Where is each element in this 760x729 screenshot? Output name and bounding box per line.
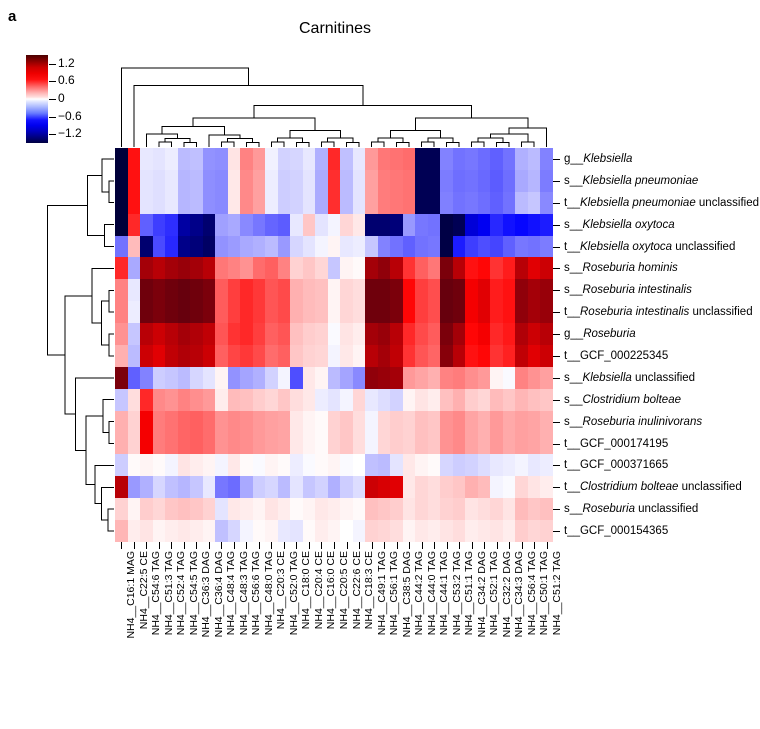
heatmap-cell [203, 279, 216, 301]
dendrogram-branch [159, 142, 172, 147]
dendrogram-branch [109, 290, 114, 312]
heatmap-cell [415, 236, 428, 258]
column-tick [221, 542, 222, 549]
column-label: NH4__C52:0 TAG [288, 551, 300, 635]
row-tick [553, 444, 560, 445]
heatmap-cell [265, 301, 278, 323]
heatmap-cell [115, 433, 128, 455]
figure-title: Carnitines [115, 20, 555, 38]
heatmap-cell [328, 192, 341, 214]
heatmap-cell [465, 367, 478, 389]
heatmap-cell [490, 476, 503, 498]
column-label: NH4__C18:3 CE [363, 551, 375, 629]
heatmap-cell [365, 279, 378, 301]
heatmap-cell [253, 389, 266, 411]
row-label-suffix: unclassified [635, 503, 698, 515]
heatmap-cell [128, 520, 141, 542]
heatmap-cell [215, 301, 228, 323]
heatmap-cell [328, 323, 341, 345]
heatmap-cell [353, 476, 366, 498]
heatmap-cell [140, 301, 153, 323]
row-label-taxon: Clostridium bolteae [583, 394, 681, 406]
heatmap-cell [290, 520, 303, 542]
row-label-taxon: Klebsiella [583, 153, 632, 165]
heatmap-cell [490, 279, 503, 301]
heatmap-cell [378, 498, 391, 520]
heatmap-cell [153, 279, 166, 301]
column-tick [159, 542, 160, 549]
row-label: s__Klebsiella unclassified [564, 372, 695, 384]
heatmap-cell [353, 148, 366, 170]
heatmap-cell [190, 433, 203, 455]
dendrogram-branch [109, 422, 114, 444]
color-key-tick [49, 117, 56, 118]
heatmap-cell [428, 476, 441, 498]
heatmap-cell [440, 345, 453, 367]
heatmap-cell [290, 367, 303, 389]
row-tick [553, 334, 560, 335]
heatmap-cell [340, 498, 353, 520]
column-label: NH4__C20:3 CE [275, 551, 287, 629]
heatmap-cell [528, 433, 541, 455]
heatmap-cell [253, 301, 266, 323]
heatmap-cell [228, 170, 241, 192]
heatmap-cell [515, 433, 528, 455]
heatmap-cell [303, 433, 316, 455]
heatmap-cell [165, 433, 178, 455]
heatmap-cell [190, 236, 203, 258]
heatmap-cell [128, 214, 141, 236]
heatmap-cell [265, 236, 278, 258]
column-label: NH4__C48:3 TAG [238, 551, 250, 635]
heatmap-cell [378, 257, 391, 279]
color-key-tick [49, 99, 56, 100]
row-label-taxon: Roseburia [583, 503, 635, 515]
heatmap-cell [203, 345, 216, 367]
heatmap-cell [278, 236, 291, 258]
heatmap-cell [490, 236, 503, 258]
heatmap-cell [453, 433, 466, 455]
heatmap-cell [265, 345, 278, 367]
panel-letter: a [8, 8, 16, 25]
heatmap-cell [153, 301, 166, 323]
column-tick [384, 542, 385, 549]
heatmap-cell [340, 170, 353, 192]
heatmap-cell [390, 476, 403, 498]
heatmap-cell [303, 498, 316, 520]
heatmap-cell [465, 148, 478, 170]
heatmap-cell [265, 170, 278, 192]
heatmap-cell [228, 192, 241, 214]
heatmap-cell [378, 411, 391, 433]
heatmap-cell [365, 257, 378, 279]
dendrogram-branch [47, 205, 87, 354]
heatmap-cell [115, 279, 128, 301]
heatmap-cell [428, 170, 441, 192]
row-tick [553, 181, 560, 182]
heatmap-cell [240, 279, 253, 301]
heatmap-cell [378, 236, 391, 258]
column-label: NH4__C20:5 CE [338, 551, 350, 629]
heatmap-cell [153, 433, 166, 455]
column-tick [321, 542, 322, 549]
heatmap-cell [240, 476, 253, 498]
heatmap-cell [365, 214, 378, 236]
heatmap-cell [403, 236, 416, 258]
row-label-prefix: s__ [564, 416, 583, 428]
heatmap-cell [303, 454, 316, 476]
heatmap-cell [540, 236, 553, 258]
heatmap-cell [353, 520, 366, 542]
heatmap-cell [453, 345, 466, 367]
color-key-tick-label: −0.6 [58, 111, 82, 121]
heatmap-cell [128, 170, 141, 192]
heatmap-cell [165, 411, 178, 433]
heatmap-cell [328, 345, 341, 367]
heatmap-cell [240, 389, 253, 411]
heatmap-cell [315, 411, 328, 433]
heatmap-cell [403, 389, 416, 411]
heatmap-cell [490, 148, 503, 170]
column-tick [372, 542, 373, 549]
heatmap-cell [265, 389, 278, 411]
heatmap-cell [378, 301, 391, 323]
heatmap-cell [453, 476, 466, 498]
heatmap-cell [528, 498, 541, 520]
heatmap-cell [240, 236, 253, 258]
heatmap-cell [515, 301, 528, 323]
heatmap-cell [478, 389, 491, 411]
heatmap-cell [440, 301, 453, 323]
heatmap-cell [503, 411, 516, 433]
heatmap-cell [278, 192, 291, 214]
heatmap-cell [253, 236, 266, 258]
heatmap-cell [340, 323, 353, 345]
heatmap-cell [265, 148, 278, 170]
column-tick [472, 542, 473, 549]
column-label: NH4__C50:1 TAG [538, 551, 550, 635]
heatmap-cell [240, 323, 253, 345]
heatmap-cell [528, 148, 541, 170]
row-tick [553, 268, 560, 269]
heatmap-cell [465, 192, 478, 214]
heatmap-cell [515, 389, 528, 411]
heatmap-cell [515, 236, 528, 258]
heatmap-cell [253, 411, 266, 433]
color-key-colorbar [26, 55, 48, 143]
heatmap-cell [253, 323, 266, 345]
heatmap-cell [503, 214, 516, 236]
column-tick [447, 542, 448, 549]
heatmap-cell [440, 476, 453, 498]
dendrogram-branch [422, 142, 435, 147]
heatmap-cell [415, 411, 428, 433]
row-label: s__Roseburia intestinalis [564, 284, 692, 296]
heatmap-cell [515, 257, 528, 279]
heatmap-cell [303, 257, 316, 279]
column-tick [534, 542, 535, 549]
heatmap-cell [265, 454, 278, 476]
heatmap-cell [253, 148, 266, 170]
heatmap-cell [165, 192, 178, 214]
dendrogram-branch [95, 465, 114, 503]
column-label: NH4__C48:0 TAG [263, 551, 275, 635]
heatmap-cell [153, 214, 166, 236]
heatmap-cell [428, 301, 441, 323]
heatmap-cell [515, 367, 528, 389]
heatmap-cell [390, 433, 403, 455]
heatmap-cell [203, 170, 216, 192]
heatmap-cell [503, 279, 516, 301]
heatmap-cell [253, 345, 266, 367]
heatmap-cell [190, 192, 203, 214]
heatmap-cell [203, 236, 216, 258]
heatmap-cell [140, 389, 153, 411]
heatmap-cell [115, 345, 128, 367]
dendrogram-branch [65, 296, 92, 414]
column-tick [309, 542, 310, 549]
heatmap-cell [278, 279, 291, 301]
heatmap-cell [528, 345, 541, 367]
heatmap-cell [190, 301, 203, 323]
color-key-tick-label: 1.2 [58, 58, 75, 68]
heatmap-cell [228, 520, 241, 542]
heatmap-cell [303, 192, 316, 214]
heatmap-cell [378, 520, 391, 542]
column-tick [434, 542, 435, 549]
heatmap-cell [528, 301, 541, 323]
color-key-tick-label: 0 [58, 93, 65, 103]
heatmap-cell [453, 148, 466, 170]
heatmap-cell [378, 389, 391, 411]
heatmap-cell [440, 192, 453, 214]
heatmap-cell [265, 323, 278, 345]
heatmap-cell [140, 454, 153, 476]
heatmap-cell [403, 323, 416, 345]
heatmap-cell [153, 192, 166, 214]
row-label-prefix: t__GCF_000225345 [564, 350, 668, 362]
heatmap-cell [278, 520, 291, 542]
heatmap-cell [353, 236, 366, 258]
heatmap-cell [453, 214, 466, 236]
heatmap-cell [328, 214, 341, 236]
heatmap-cell [215, 214, 228, 236]
row-tick [553, 465, 560, 466]
heatmap-cell [390, 236, 403, 258]
color-key-tick-label: 0.6 [58, 75, 75, 85]
heatmap-cell [353, 214, 366, 236]
heatmap-cell [515, 192, 528, 214]
color-key-tick-label: −1.2 [58, 128, 82, 138]
heatmap-cell [278, 170, 291, 192]
heatmap-cell [340, 279, 353, 301]
column-tick [184, 542, 185, 549]
heatmap-cell [428, 411, 441, 433]
heatmap-cell [228, 389, 241, 411]
heatmap-cell [340, 411, 353, 433]
heatmap-cell [290, 148, 303, 170]
column-tick [246, 542, 247, 549]
dendrogram-branch [522, 142, 535, 147]
heatmap-cell [153, 520, 166, 542]
heatmap-cell [453, 323, 466, 345]
column-label: NH4__C34:3 DAG [513, 551, 525, 637]
dendrogram-branch [221, 142, 234, 147]
column-tick [146, 542, 147, 549]
heatmap-cell [540, 170, 553, 192]
heatmap-cell [240, 498, 253, 520]
heatmap-cell [490, 520, 503, 542]
heatmap-cell [403, 279, 416, 301]
heatmap-cell [328, 367, 341, 389]
column-tick [459, 542, 460, 549]
heatmap-cell [453, 236, 466, 258]
row-label: t__Clostridium bolteae unclassified [564, 481, 742, 493]
heatmap-cell [303, 214, 316, 236]
heatmap-cell [165, 389, 178, 411]
heatmap-cell [378, 170, 391, 192]
heatmap-cell [353, 170, 366, 192]
heatmap-cell [440, 367, 453, 389]
heatmap-cell [340, 520, 353, 542]
heatmap-cell [128, 454, 141, 476]
heatmap-cell [453, 257, 466, 279]
heatmap-cell [165, 454, 178, 476]
row-label-prefix: s__ [564, 284, 583, 296]
heatmap-cell [265, 476, 278, 498]
heatmap-cell [290, 454, 303, 476]
heatmap-cell [503, 192, 516, 214]
heatmap-cell [378, 367, 391, 389]
heatmap-cell [140, 411, 153, 433]
row-label-prefix: t__ [564, 481, 580, 493]
row-tick [553, 422, 560, 423]
heatmap-cell [303, 411, 316, 433]
column-label: NH4__C51:2 TAG [551, 551, 563, 635]
heatmap-cell [490, 214, 503, 236]
row-label: g__Roseburia [564, 328, 636, 340]
column-tick [296, 542, 297, 549]
heatmap-cell [453, 498, 466, 520]
heatmap-cell [315, 454, 328, 476]
heatmap-cell [190, 345, 203, 367]
heatmap-cell [228, 498, 241, 520]
heatmap-cell [253, 367, 266, 389]
heatmap-cell [403, 214, 416, 236]
heatmap-cell [190, 214, 203, 236]
row-label: t__GCF_000225345 [564, 350, 668, 362]
heatmap-cell [278, 498, 291, 520]
heatmap-cell [165, 257, 178, 279]
heatmap-cell [478, 170, 491, 192]
heatmap-cell [228, 433, 241, 455]
heatmap-cell [528, 520, 541, 542]
column-labels: NH4__C16:1 MAGNH4__C22:5 CENH4__C54:6 TA… [115, 551, 553, 661]
heatmap-cell [303, 345, 316, 367]
heatmap-cell [465, 170, 478, 192]
heatmap-cell [278, 345, 291, 367]
heatmap-cell [278, 301, 291, 323]
heatmap-cell [353, 498, 366, 520]
dendrogram-branch [372, 142, 385, 147]
column-label: NH4__C56:4 TAG [526, 551, 538, 635]
heatmap-cell [290, 192, 303, 214]
heatmap-cell [490, 498, 503, 520]
heatmap-cell [140, 236, 153, 258]
column-label: NH4__C56:6 TAG [250, 551, 262, 635]
row-label-prefix: t__GCF_000154365 [564, 525, 668, 537]
heatmap-cell [265, 279, 278, 301]
heatmap-cell [240, 192, 253, 214]
heatmap-cell [415, 257, 428, 279]
column-label: NH4__C38:5 DAG [401, 551, 413, 637]
heatmap-cell [178, 433, 191, 455]
column-label: NH4__C56:1 TAG [388, 551, 400, 635]
heatmap-cell [190, 148, 203, 170]
heatmap-cell [378, 279, 391, 301]
heatmap-cell [240, 520, 253, 542]
heatmap-cell [390, 323, 403, 345]
heatmap-cell [265, 498, 278, 520]
heatmap-cell [190, 411, 203, 433]
heatmap-cell [478, 214, 491, 236]
heatmap-cell [203, 367, 216, 389]
heatmap-cell [440, 148, 453, 170]
heatmap-cell [165, 367, 178, 389]
heatmap-cell [215, 170, 228, 192]
heatmap-cell [490, 257, 503, 279]
heatmap-cell [165, 148, 178, 170]
column-label: NH4__C16:1 MAG [125, 551, 137, 639]
heatmap-cell [453, 192, 466, 214]
heatmap-cell [340, 345, 353, 367]
heatmap-cell [528, 214, 541, 236]
heatmap-cell [465, 498, 478, 520]
heatmap-cell [428, 454, 441, 476]
heatmap-cell [215, 476, 228, 498]
row-label-prefix: t__ [564, 197, 580, 209]
heatmap-cell [140, 323, 153, 345]
row-label: t__GCF_000371665 [564, 459, 668, 471]
dendrogram-branch [271, 142, 284, 147]
heatmap-cell [315, 520, 328, 542]
heatmap-cell [540, 498, 553, 520]
row-tick [553, 159, 560, 160]
column-tick [347, 542, 348, 549]
heatmap-cell [290, 433, 303, 455]
row-label-prefix: s__ [564, 175, 583, 187]
heatmap-cell [390, 301, 403, 323]
heatmap-cell [265, 192, 278, 214]
heatmap-cell [190, 257, 203, 279]
heatmap-cell [228, 236, 241, 258]
heatmap-cell [478, 498, 491, 520]
column-label: NH4__C48:4 TAG [225, 551, 237, 635]
dendrogram-branch [146, 134, 177, 147]
heatmap-cell [378, 214, 391, 236]
heatmap-cell [265, 214, 278, 236]
heatmap-cell [215, 454, 228, 476]
heatmap-cell [528, 476, 541, 498]
heatmap-cell [515, 279, 528, 301]
row-label: t__GCF_000174195 [564, 438, 668, 450]
heatmap-cell [290, 170, 303, 192]
heatmap-cell [415, 345, 428, 367]
heatmap-cell [340, 214, 353, 236]
heatmap-cell [415, 279, 428, 301]
heatmap-cell [390, 345, 403, 367]
heatmap-cell [440, 454, 453, 476]
